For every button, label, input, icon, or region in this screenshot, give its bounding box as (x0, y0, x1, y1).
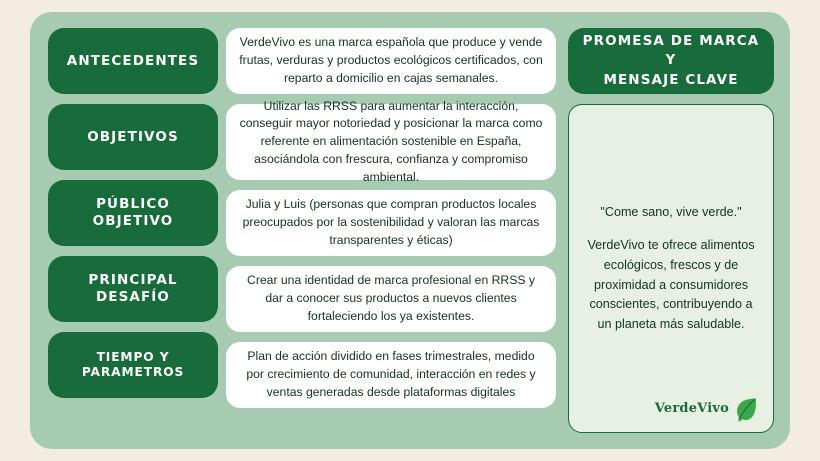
brand-promise-header: PROMESA DE MARCA Y MENSAJE CLAVE (568, 28, 774, 94)
category-content-column: VerdeVivo es una marca española que prod… (226, 28, 556, 408)
category-label-objetivos: OBJETIVOS (48, 104, 218, 170)
brand-promise-body: "Come sano, vive verde." VerdeVivo te of… (568, 104, 774, 433)
category-label-principal-desafio: PRINCIPAL DESAFÍO (48, 256, 218, 322)
content-card-objetivos: Utilizar las RRSS para aumentar la inter… (226, 104, 556, 180)
brand-promise-header-line2: MENSAJE CLAVE (603, 71, 738, 91)
brand-promise-header-line1: PROMESA DE MARCA Y (578, 32, 764, 71)
brand-logo: VerdeVivo (655, 396, 759, 422)
content-card-text: VerdeVivo es una marca española que prod… (238, 34, 544, 87)
content-card-text: Crear una identidad de marca profesional… (238, 272, 544, 325)
infographic-board: ANTECEDENTES OBJETIVOS PÚBLICO OBJETIVO … (30, 12, 790, 449)
leaf-icon (733, 396, 759, 422)
content-card-publico-objetivo: Julia y Luis (personas que compran produ… (226, 190, 556, 256)
category-label-publico-objetivo: PÚBLICO OBJETIVO (48, 180, 218, 246)
category-label-text: TIEMPO Y PARAMETROS (54, 350, 212, 381)
brand-promise-text: VerdeVivo te ofrece alimentos ecológicos… (585, 236, 757, 334)
content-card-text: Julia y Luis (personas que compran produ… (238, 196, 544, 249)
category-label-text: PÚBLICO OBJETIVO (54, 196, 212, 230)
category-label-text: OBJETIVOS (87, 129, 179, 146)
category-label-antecedentes: ANTECEDENTES (48, 28, 218, 94)
category-labels-column: ANTECEDENTES OBJETIVOS PÚBLICO OBJETIVO … (48, 28, 218, 398)
brand-logo-text: VerdeVivo (655, 399, 729, 419)
brand-promise-column: PROMESA DE MARCA Y MENSAJE CLAVE "Come s… (568, 28, 774, 433)
content-card-text: Utilizar las RRSS para aumentar la inter… (238, 98, 544, 186)
content-card-antecedentes: VerdeVivo es una marca española que prod… (226, 28, 556, 94)
content-card-text: Plan de acción dividido en fases trimest… (238, 348, 544, 401)
brand-promise-quote: "Come sano, vive verde." (600, 203, 741, 223)
category-label-tiempo-y-parametros: TIEMPO Y PARAMETROS (48, 332, 218, 398)
content-card-tiempo-y-parametros: Plan de acción dividido en fases trimest… (226, 342, 556, 408)
content-card-principal-desafio: Crear una identidad de marca profesional… (226, 266, 556, 332)
category-label-text: PRINCIPAL DESAFÍO (54, 272, 212, 306)
category-label-text: ANTECEDENTES (67, 53, 199, 70)
